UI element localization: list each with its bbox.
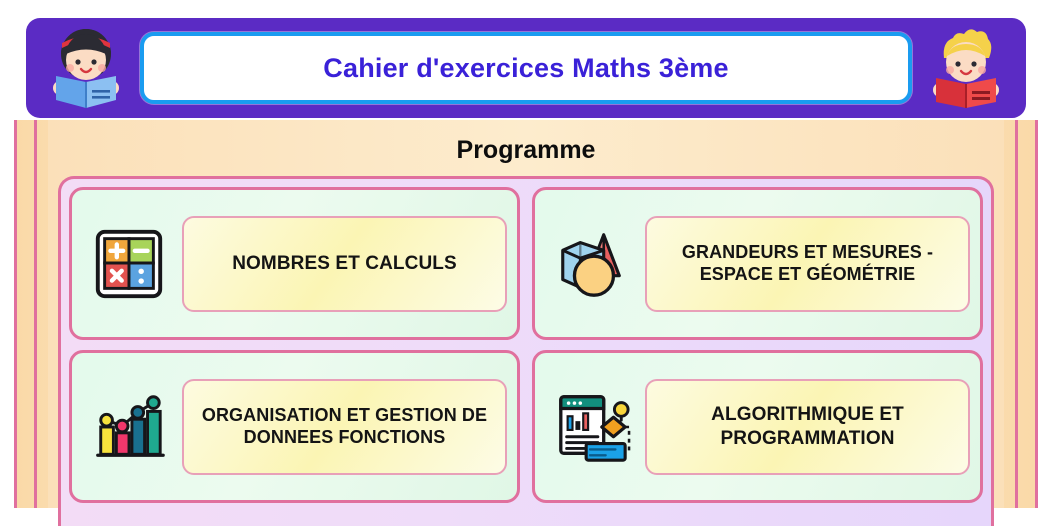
- header-bar: Cahier d'exercices Maths 3ème: [26, 18, 1026, 118]
- card-label-text: ALGORITHMIQUE ET PROGRAMMATION: [657, 403, 958, 449]
- card-label-text: NOMBRES ET CALCULS: [232, 252, 457, 275]
- page-root: Cahier d'exercices Maths 3ème: [0, 0, 1052, 526]
- card-label-text: ORGANISATION ET GESTION DE DONNEES FONCT…: [194, 405, 495, 449]
- card-grandeurs-mesures-geometrie[interactable]: GRANDEURS ET MESURES - ESPACE ET GÉOMÉTR…: [532, 187, 983, 340]
- calculator-icon: [86, 221, 172, 307]
- card-label-box: ORGANISATION ET GESTION DE DONNEES FONCT…: [182, 379, 507, 475]
- boy-reading-red-book-icon: [920, 24, 1012, 112]
- bar-chart-icon: [86, 384, 172, 470]
- geometry-shapes-icon: [549, 221, 635, 307]
- programme-grid-container: NOMBRES ET CALCULS: [58, 176, 994, 526]
- card-organisation-gestion-donnees[interactable]: ORGANISATION ET GESTION DE DONNEES FONCT…: [69, 350, 520, 503]
- programme-grid: NOMBRES ET CALCULS: [69, 187, 983, 503]
- girl-reading-blue-book-icon: [40, 24, 132, 112]
- card-label-box: ALGORITHMIQUE ET PROGRAMMATION: [645, 379, 970, 475]
- card-label-box: NOMBRES ET CALCULS: [182, 216, 507, 312]
- card-nombres-et-calculs[interactable]: NOMBRES ET CALCULS: [69, 187, 520, 340]
- flowchart-programming-icon: [549, 384, 635, 470]
- page-title: Cahier d'exercices Maths 3ème: [323, 53, 728, 84]
- card-label-text: GRANDEURS ET MESURES - ESPACE ET GÉOMÉTR…: [657, 242, 958, 286]
- card-label-box: GRANDEURS ET MESURES - ESPACE ET GÉOMÉTR…: [645, 216, 970, 312]
- section-heading: Programme: [457, 136, 596, 165]
- programme-heading-strip: Programme: [48, 126, 1004, 174]
- card-algorithmique-programmation[interactable]: ALGORITHMIQUE ET PROGRAMMATION: [532, 350, 983, 503]
- title-box: Cahier d'exercices Maths 3ème: [140, 32, 912, 104]
